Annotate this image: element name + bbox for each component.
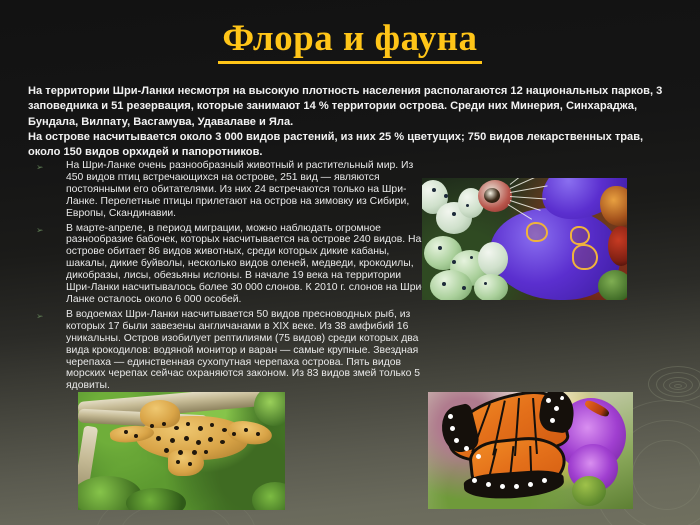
intro-line-1: На территории Шри-Ланки несмотря на высо…: [28, 84, 676, 130]
list-item: ➢ В водоемах Шри-Ланки насчитывается 50 …: [36, 309, 426, 392]
arrow-bullet-icon: ➢: [36, 223, 66, 236]
arrow-bullet-icon: ➢: [36, 160, 66, 173]
photo-coral-reef: [422, 178, 627, 300]
coral-reef-illustration: [422, 178, 627, 300]
slide-canvas: Флора и фауна На территории Шри-Ланки не…: [0, 0, 700, 525]
photo-leopard: [78, 392, 285, 510]
intro-paragraph: На территории Шри-Ланки несмотря на высо…: [28, 84, 676, 160]
list-item-text: В марте-апреле, в период миграции, можно…: [66, 223, 426, 306]
arrow-bullet-icon: ➢: [36, 309, 66, 322]
bullet-list: ➢ На Шри-Ланке очень разнообразный живот…: [36, 160, 426, 395]
page-title: Флора и фауна: [218, 18, 481, 64]
photo-butterfly: [428, 392, 633, 509]
butterfly-illustration: [428, 392, 633, 509]
title-container: Флора и фауна: [0, 18, 700, 64]
list-item: ➢ В марте-апреле, в период миграции, мож…: [36, 223, 426, 306]
intro-line-2: На острове насчитывается около 3 000 вид…: [28, 130, 676, 161]
list-item: ➢ На Шри-Ланке очень разнообразный живот…: [36, 160, 426, 220]
list-item-text: На Шри-Ланке очень разнообразный животны…: [66, 160, 426, 220]
list-item-text: В водоемах Шри-Ланки насчитывается 50 ви…: [66, 309, 426, 392]
leopard-illustration: [78, 392, 285, 510]
